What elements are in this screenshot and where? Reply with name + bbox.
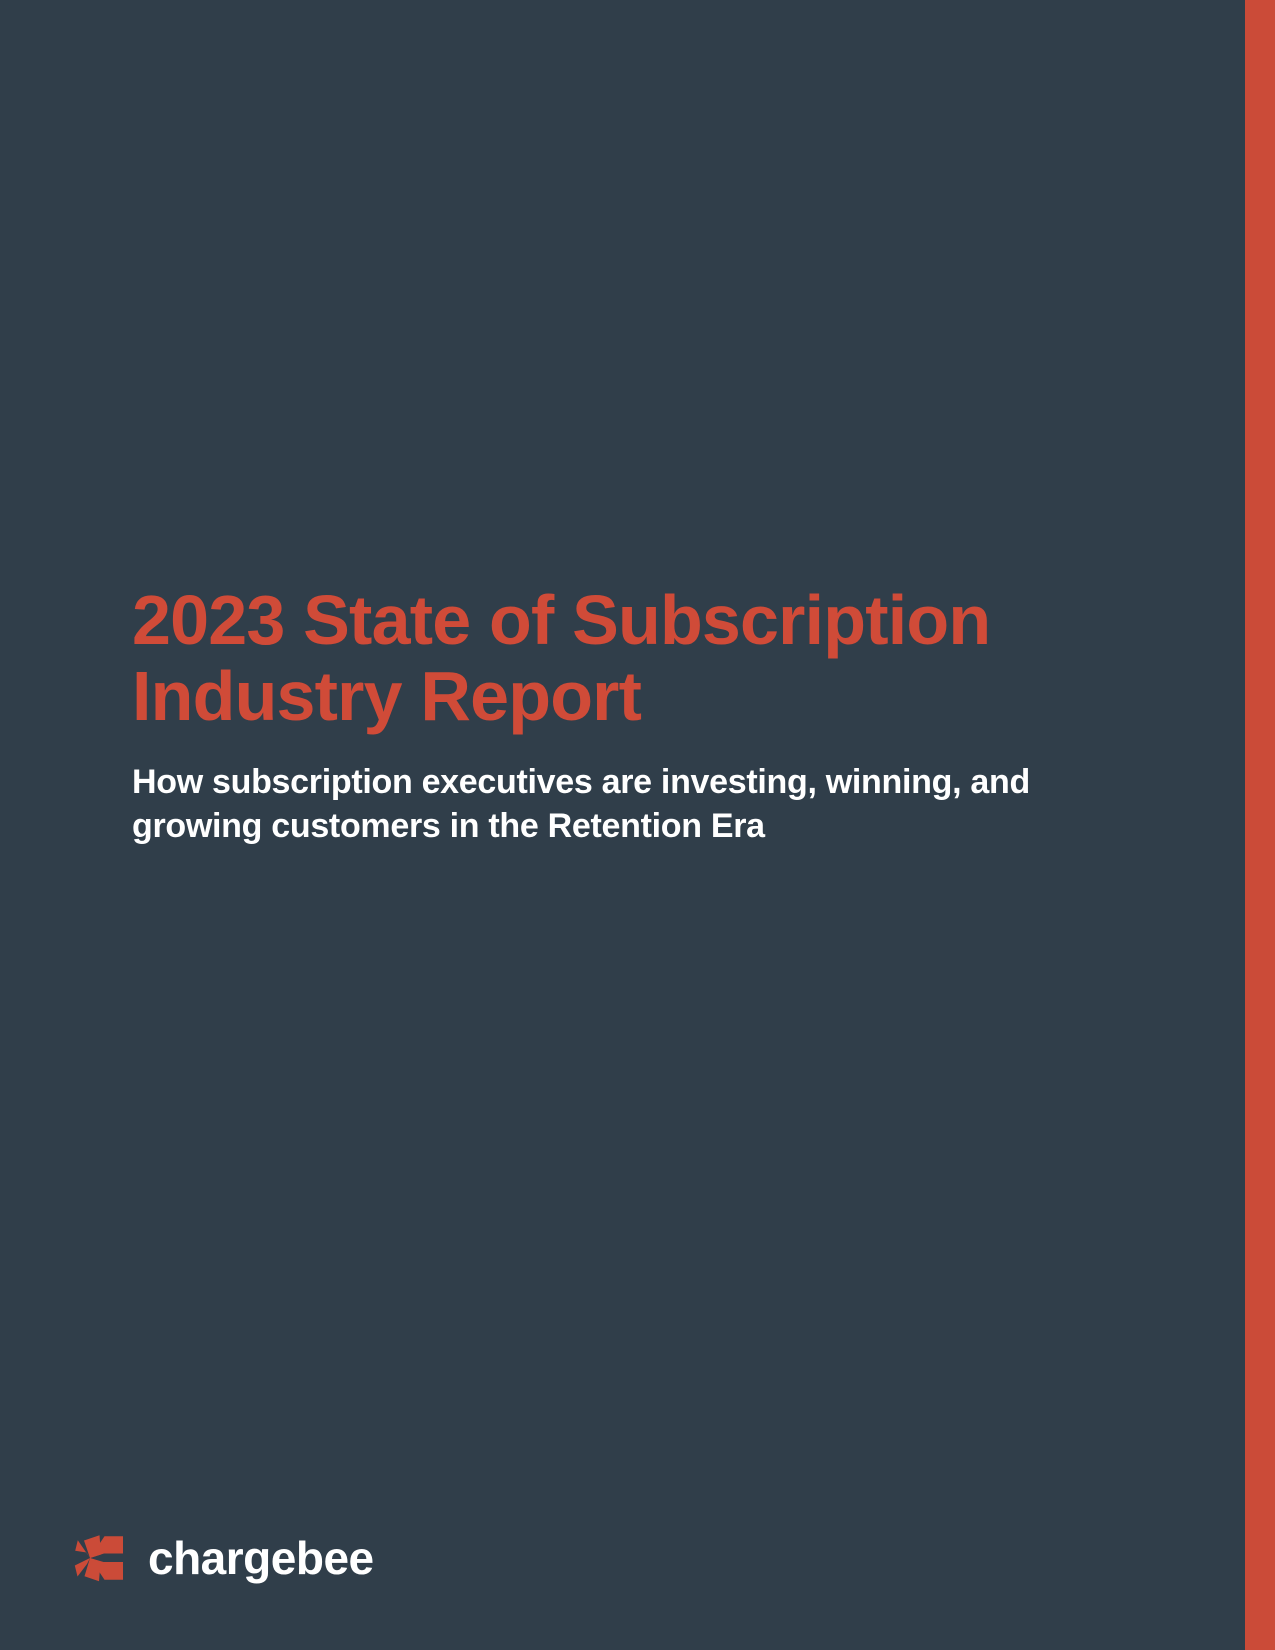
chargebee-wordmark: chargebee — [148, 1535, 374, 1581]
chargebee-pinwheel-mark — [74, 1532, 126, 1584]
chargebee-logo: chargebee — [74, 1532, 374, 1584]
page-title: 2023 State of Subscription Industry Repo… — [132, 582, 1092, 734]
right-edge-accent-stripe — [1245, 0, 1275, 1650]
cover-title-block: 2023 State of Subscription Industry Repo… — [132, 582, 1092, 848]
page-subtitle: How subscription executives are investin… — [132, 760, 1092, 848]
report-cover-page: 2023 State of Subscription Industry Repo… — [0, 0, 1275, 1650]
